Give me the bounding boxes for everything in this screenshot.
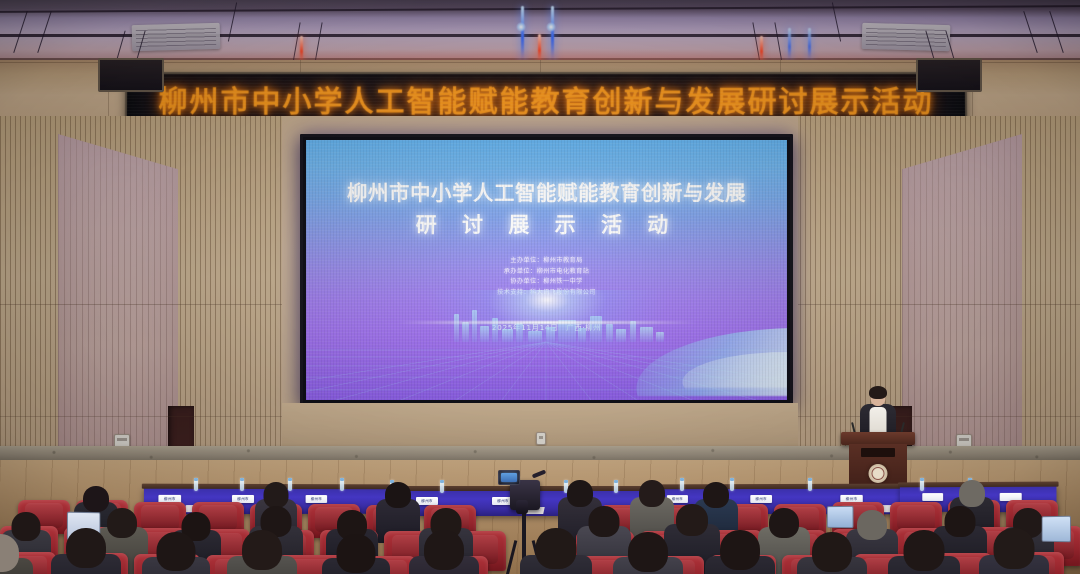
wall-speaker <box>916 58 982 92</box>
placard-text: 柳州市 <box>756 497 767 502</box>
wall-speaker <box>98 58 164 92</box>
water-bottle <box>808 478 812 491</box>
name-placard <box>922 493 943 501</box>
light-glow <box>546 22 556 32</box>
water-bottle <box>194 478 198 491</box>
water-bottle <box>340 478 344 491</box>
water-bottle <box>440 480 444 493</box>
water-bottle <box>240 478 244 491</box>
school-emblem <box>869 464 888 483</box>
stage-outlet <box>536 432 546 445</box>
name-placard: 柳州市 <box>306 495 328 503</box>
name-placard: 柳州市 <box>750 495 772 503</box>
led-banner-text: 柳州市中小学人工智能赋能教育创新与发展研讨展示活动 <box>158 79 933 121</box>
tablet-screen[interactable] <box>827 506 854 528</box>
ceiling-vent <box>132 23 221 51</box>
water-bottle <box>680 478 684 491</box>
light-glow <box>516 22 526 32</box>
screen-content: 柳州市中小学人工智能赋能教育创新与发展 研 讨 展 示 活 动 主办单位：柳州市… <box>306 140 787 400</box>
placard-text: 柳州市 <box>421 499 432 504</box>
ceiling <box>0 0 1080 64</box>
laptop-screen[interactable] <box>1042 516 1071 543</box>
placard-text: 柳州市 <box>237 496 248 501</box>
ceiling-vent <box>862 23 951 51</box>
water-bottle <box>614 480 618 493</box>
camera-lens <box>516 500 528 514</box>
placard-text: 柳州市 <box>846 496 858 501</box>
water-bottle <box>288 478 292 491</box>
water-bottle <box>730 478 734 491</box>
placard-text: 柳州市 <box>311 497 322 502</box>
water-bottle <box>920 478 924 491</box>
auditorium-photo: 柳州市中小学人工智能赋能教育创新与发展研讨展示活动 <box>0 0 1080 574</box>
placard-text: 柳州市 <box>164 496 176 501</box>
led-display-screen: 柳州市中小学人工智能赋能教育创新与发展 研 讨 展 示 活 动 主办单位：柳州市… <box>300 134 793 406</box>
name-placard: 柳州市 <box>416 497 438 505</box>
camera-flip-screen <box>498 470 520 485</box>
placard-text: 柳州市 <box>672 497 683 502</box>
